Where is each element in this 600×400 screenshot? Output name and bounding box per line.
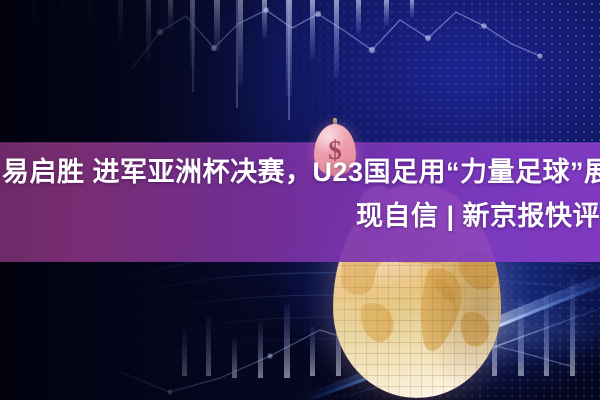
news-banner-image: $ $ 易启胜 进军亚洲杯决赛，U23国足用“力量足球”展 现自信 | 新京报快… xyxy=(0,0,600,400)
headline-line-2: 现自信 | 新京报快评 xyxy=(0,196,600,236)
headline-line-1: 易启胜 进军亚洲杯决赛，U23国足用“力量足球”展 xyxy=(0,152,600,192)
